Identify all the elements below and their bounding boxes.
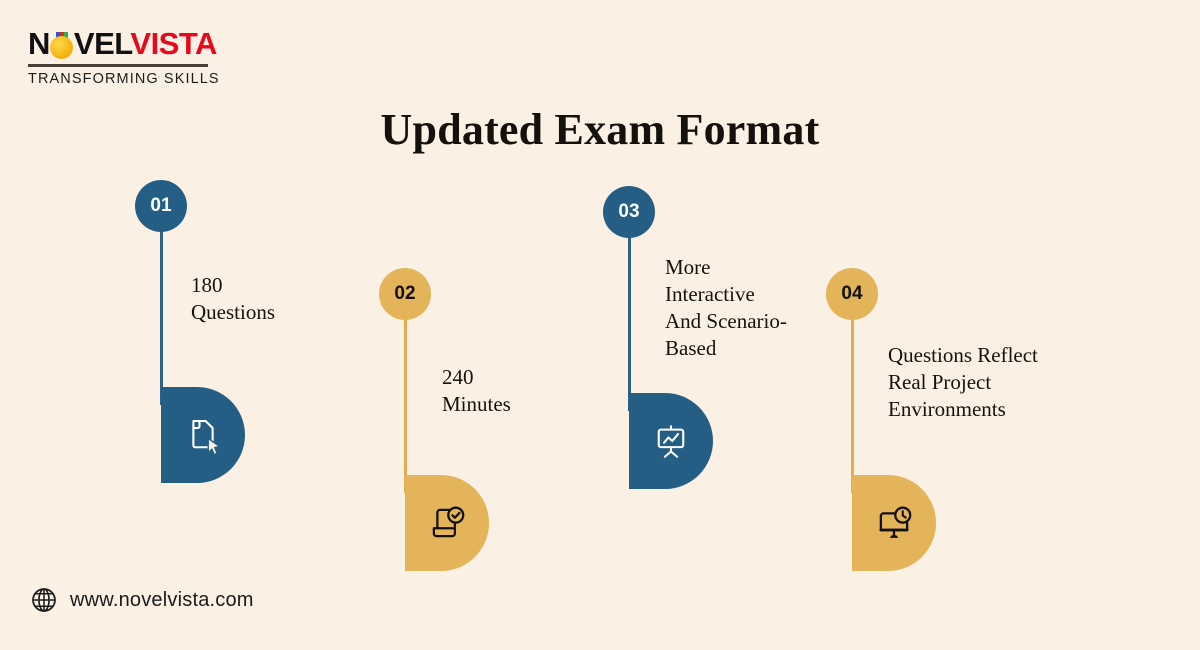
presentation-chart-icon — [650, 420, 692, 462]
logo-tagline: TRANSFORMING SKILLS — [28, 71, 228, 87]
step-connector-01 — [160, 205, 163, 405]
step-icon-blob-01 — [161, 387, 245, 483]
step-number-04: 04 — [841, 283, 862, 305]
step-label-03: More Interactive And Scenario- Based — [665, 254, 845, 362]
step-label-01: 180 Questions — [191, 272, 341, 326]
step-badge-03[interactable]: 03 — [603, 186, 655, 238]
logo-wordmark: NVELVISTA — [28, 28, 228, 62]
step-badge-01[interactable]: 01 — [135, 180, 187, 232]
lightbulb-glow-icon — [50, 36, 73, 59]
step-icon-blob-03 — [629, 393, 713, 489]
logo-divider — [28, 64, 208, 67]
logo-text-vista: VISTA — [130, 26, 217, 61]
monitor-clock-icon — [873, 502, 915, 544]
globe-icon — [30, 586, 58, 614]
step-icon-blob-04 — [852, 475, 936, 571]
step-connector-02 — [404, 293, 407, 493]
step-badge-04[interactable]: 04 — [826, 268, 878, 320]
step-connector-03 — [628, 211, 631, 411]
step-number-01: 01 — [150, 195, 171, 217]
brand-logo: NVELVISTA TRANSFORMING SKILLS — [28, 28, 228, 87]
infographic-canvas: NVELVISTA TRANSFORMING SKILLS Updated Ex… — [0, 0, 1200, 650]
step-number-02: 02 — [394, 283, 415, 305]
step-connector-04 — [851, 293, 854, 493]
logo-text-novel-n: N — [28, 26, 50, 61]
step-number-03: 03 — [618, 201, 639, 223]
footer: www.novelvista.com — [30, 586, 254, 614]
logo-text-novel-vel: VEL — [74, 26, 131, 61]
step-icon-blob-02 — [405, 475, 489, 571]
step-label-02: 240 Minutes — [442, 364, 602, 418]
page-title: Updated Exam Format — [0, 104, 1200, 155]
footer-url[interactable]: www.novelvista.com — [70, 589, 254, 612]
step-badge-02[interactable]: 02 — [379, 268, 431, 320]
lightbulb-icon — [49, 32, 75, 58]
certificate-check-icon — [426, 502, 468, 544]
document-cursor-icon — [182, 414, 224, 456]
step-label-04: Questions Reflect Real Project Environme… — [888, 342, 1098, 423]
